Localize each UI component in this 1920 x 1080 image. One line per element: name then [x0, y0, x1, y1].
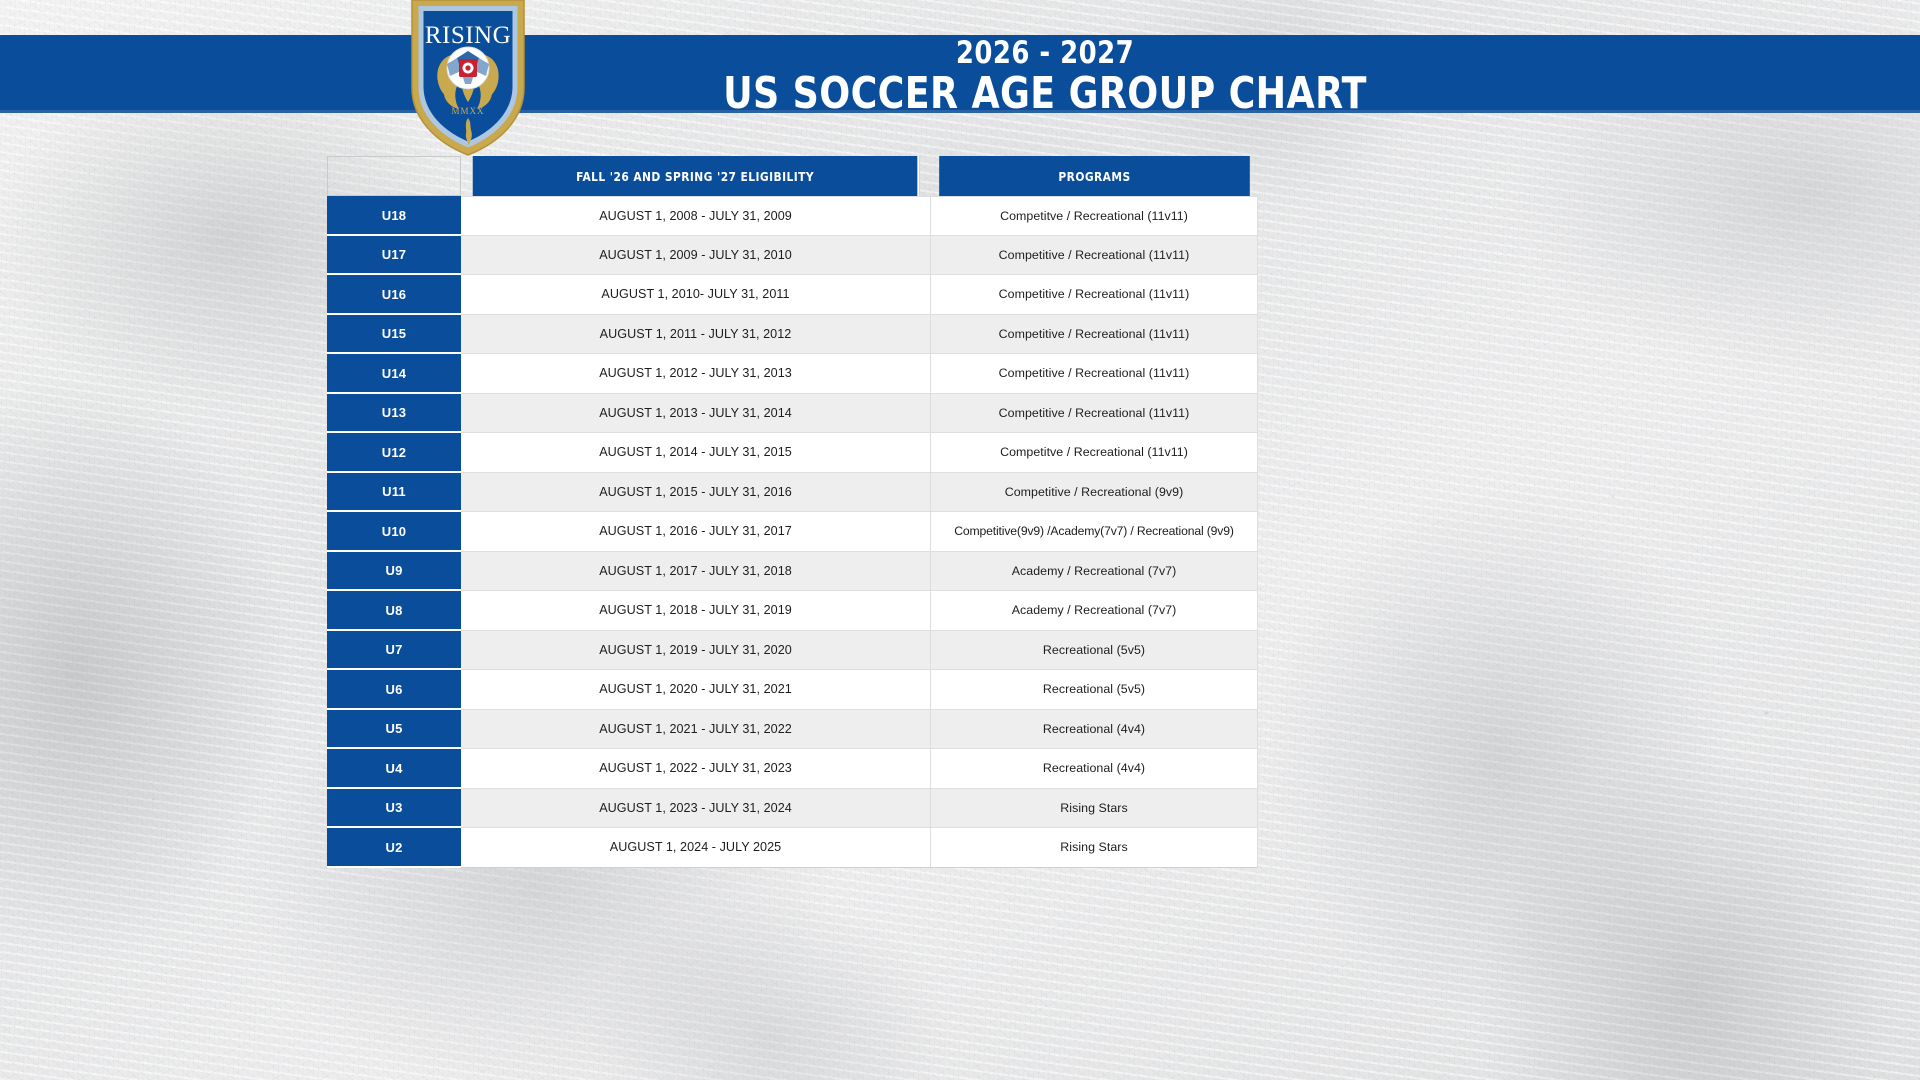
- eligibility-dates: AUGUST 1, 2008 - JULY 31, 2009: [461, 196, 931, 236]
- table-row: U13 AUGUST 1, 2013 - JULY 31, 2014 Compe…: [327, 394, 1258, 434]
- programs-offered: Recreational (4v4): [931, 749, 1258, 789]
- age-group-label: U2: [327, 828, 461, 868]
- eligibility-dates: AUGUST 1, 2017 - JULY 31, 2018: [461, 552, 931, 592]
- table-header-row: FALL '26 AND SPRING '27 ELIGIBILITY PROG…: [327, 156, 1258, 196]
- programs-offered: Rising Stars: [931, 828, 1258, 868]
- programs-offered: Competitive / Recreational (11v11): [931, 315, 1258, 355]
- table-row: U9 AUGUST 1, 2017 - JULY 31, 2018 Academ…: [327, 552, 1258, 592]
- eligibility-dates: AUGUST 1, 2018 - JULY 31, 2019: [461, 591, 931, 631]
- table-row: U17 AUGUST 1, 2009 - JULY 31, 2010 Compe…: [327, 236, 1258, 276]
- title-season-years: 2026 - 2027: [529, 36, 1561, 70]
- eligibility-dates: AUGUST 1, 2022 - JULY 31, 2023: [461, 749, 931, 789]
- table-row: U14 AUGUST 1, 2012 - JULY 31, 2013 Compe…: [327, 354, 1258, 394]
- eligibility-dates: AUGUST 1, 2013 - JULY 31, 2014: [461, 394, 931, 434]
- age-group-label: U14: [327, 354, 461, 394]
- eligibility-dates: AUGUST 1, 2019 - JULY 31, 2020: [461, 631, 931, 671]
- programs-offered: Competitive / Recreational (11v11): [931, 275, 1258, 315]
- title-main-heading: US SOCCER AGE GROUP CHART: [534, 70, 1555, 118]
- table-header: FALL '26 AND SPRING '27 ELIGIBILITY PROG…: [327, 156, 1258, 196]
- age-group-label: U18: [327, 196, 461, 236]
- eligibility-dates: AUGUST 1, 2014 - JULY 31, 2015: [461, 433, 931, 473]
- age-group-label: U16: [327, 275, 461, 315]
- age-group-label: U9: [327, 552, 461, 592]
- table-header-corner-cell: [327, 156, 461, 196]
- table-row: U2 AUGUST 1, 2024 - JULY 2025 Rising Sta…: [327, 828, 1258, 868]
- programs-offered: Competitive / Recreational (11v11): [931, 354, 1258, 394]
- table-row: U11 AUGUST 1, 2015 - JULY 31, 2016 Compe…: [327, 473, 1258, 513]
- age-group-label: U6: [327, 670, 461, 710]
- age-group-table: FALL '26 AND SPRING '27 ELIGIBILITY PROG…: [327, 156, 1258, 868]
- table-row: U15 AUGUST 1, 2011 - JULY 31, 2012 Compe…: [327, 315, 1258, 355]
- eligibility-dates: AUGUST 1, 2009 - JULY 31, 2010: [461, 236, 931, 276]
- age-group-label: U13: [327, 394, 461, 434]
- eligibility-dates: AUGUST 1, 2010- JULY 31, 2011: [461, 275, 931, 315]
- programs-offered: Recreational (4v4): [931, 710, 1258, 750]
- age-group-label: U17: [327, 236, 461, 276]
- programs-offered: Competitive / Recreational (11v11): [931, 394, 1258, 434]
- table-header-eligibility: FALL '26 AND SPRING '27 ELIGIBILITY: [473, 156, 920, 196]
- table-row: U8 AUGUST 1, 2018 - JULY 31, 2019 Academ…: [327, 591, 1258, 631]
- eligibility-dates: AUGUST 1, 2015 - JULY 31, 2016: [461, 473, 931, 513]
- programs-offered: Competitive / Recreational (9v9): [931, 473, 1258, 513]
- programs-offered: Competitve / Recreational (11v11): [931, 196, 1258, 236]
- rising-soccer-crest-logo: RISING MMXX: [409, 0, 527, 159]
- table-row: U16 AUGUST 1, 2010- JULY 31, 2011 Compet…: [327, 275, 1258, 315]
- eligibility-dates: AUGUST 1, 2012 - JULY 31, 2013: [461, 354, 931, 394]
- age-group-label: U11: [327, 473, 461, 513]
- eligibility-dates: AUGUST 1, 2021 - JULY 31, 2022: [461, 710, 931, 750]
- age-group-label: U8: [327, 591, 461, 631]
- programs-offered: Recreational (5v5): [931, 670, 1258, 710]
- table-body: U18 AUGUST 1, 2008 - JULY 31, 2009 Compe…: [327, 196, 1258, 868]
- eligibility-dates: AUGUST 1, 2011 - JULY 31, 2012: [461, 315, 931, 355]
- eligibility-dates: AUGUST 1, 2016 - JULY 31, 2017: [461, 512, 931, 552]
- table-row: U3 AUGUST 1, 2023 - JULY 31, 2024 Rising…: [327, 789, 1258, 829]
- age-group-label: U7: [327, 631, 461, 671]
- table-row: U12 AUGUST 1, 2014 - JULY 31, 2015 Compe…: [327, 433, 1258, 473]
- eligibility-dates: AUGUST 1, 2020 - JULY 31, 2021: [461, 670, 931, 710]
- eligibility-dates: AUGUST 1, 2024 - JULY 2025: [461, 828, 931, 868]
- table-row: U4 AUGUST 1, 2022 - JULY 31, 2023 Recrea…: [327, 749, 1258, 789]
- table-row: U7 AUGUST 1, 2019 - JULY 31, 2020 Recrea…: [327, 631, 1258, 671]
- eligibility-dates: AUGUST 1, 2023 - JULY 31, 2024: [461, 789, 931, 829]
- table-row: U10 AUGUST 1, 2016 - JULY 31, 2017 Compe…: [327, 512, 1258, 552]
- programs-offered: Recreational (5v5): [931, 631, 1258, 671]
- programs-offered: Competitve / Recreational (11v11): [931, 433, 1258, 473]
- programs-offered: Academy / Recreational (7v7): [931, 591, 1258, 631]
- programs-offered: Rising Stars: [931, 789, 1258, 829]
- programs-offered: Academy / Recreational (7v7): [931, 552, 1258, 592]
- age-group-chart-page: 2026 - 2027 US SOCCER AGE GROUP CHART RI…: [0, 0, 1920, 1080]
- age-group-label: U10: [327, 512, 461, 552]
- svg-text:RISING: RISING: [425, 22, 511, 49]
- table-row: U6 AUGUST 1, 2020 - JULY 31, 2021 Recrea…: [327, 670, 1258, 710]
- svg-text:MMXX: MMXX: [451, 106, 484, 116]
- age-group-label: U4: [327, 749, 461, 789]
- programs-offered: Competitive(9v9) /Academy(7v7) / Recreat…: [931, 512, 1258, 552]
- table-row: U5 AUGUST 1, 2021 - JULY 31, 2022 Recrea…: [327, 710, 1258, 750]
- age-group-label: U12: [327, 433, 461, 473]
- programs-offered: Competitive / Recreational (11v11): [931, 236, 1258, 276]
- table-row: U18 AUGUST 1, 2008 - JULY 31, 2009 Compe…: [327, 196, 1258, 236]
- age-group-label: U3: [327, 789, 461, 829]
- page-title: 2026 - 2027 US SOCCER AGE GROUP CHART: [490, 36, 1600, 118]
- age-group-label: U15: [327, 315, 461, 355]
- table-header-programs: PROGRAMS: [939, 156, 1250, 196]
- age-group-label: U5: [327, 710, 461, 750]
